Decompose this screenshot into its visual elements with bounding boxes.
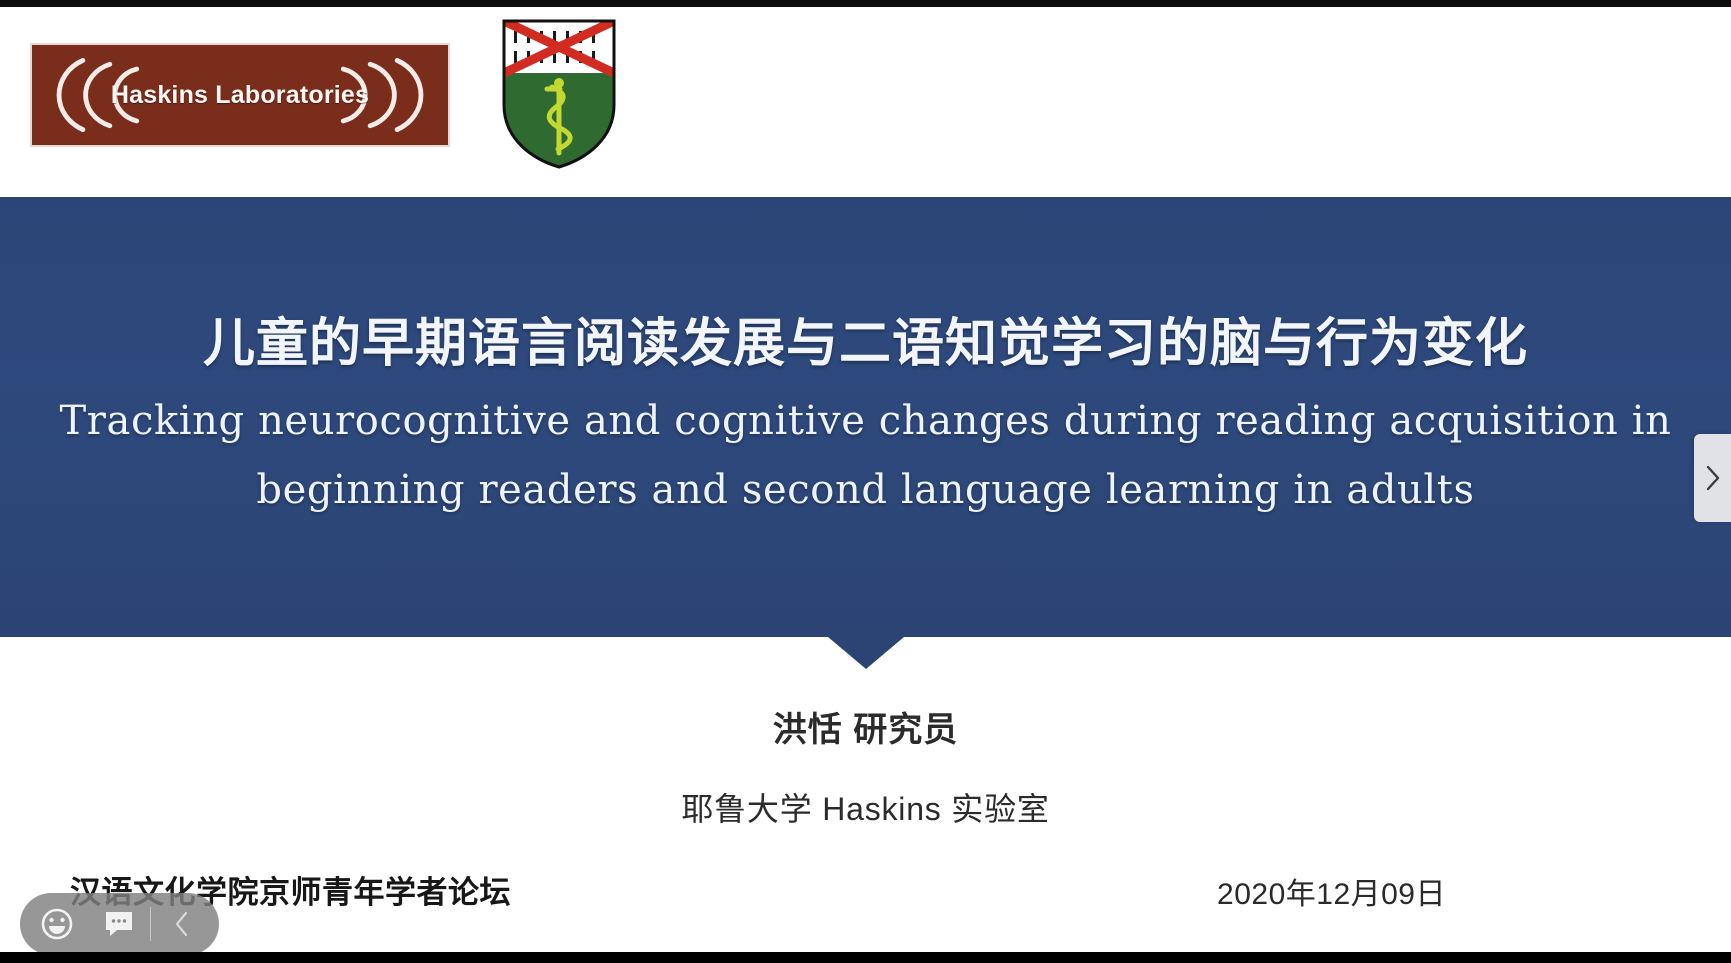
reaction-button[interactable] xyxy=(26,893,88,955)
band-pointer-triangle xyxy=(828,637,904,669)
haskins-laboratories-logo: Haskins Laboratories xyxy=(30,43,450,147)
slide-chinese-title: 儿童的早期语言阅读发展与二语知觉学习的脑与行为变化 xyxy=(0,301,1731,376)
haskins-wordmark: Haskins Laboratories xyxy=(111,81,369,110)
yale-shield-crest-icon xyxy=(500,17,618,169)
footer-date: 2020年12月09日 xyxy=(1217,869,1446,913)
bottom-black-strip xyxy=(0,952,1731,963)
speaker-name: 洪恬 研究员 xyxy=(0,702,1731,751)
zoom-shared-screen-viewer: Haskins Laboratories xyxy=(0,0,1731,963)
slide-english-title-line2: beginning readers and second language le… xyxy=(256,467,1474,513)
collapse-toolbar-button[interactable] xyxy=(151,893,213,955)
smiley-face-icon xyxy=(40,907,74,941)
chevron-right-icon xyxy=(1705,465,1721,491)
logo-row: Haskins Laboratories xyxy=(0,7,1731,197)
meeting-floating-toolbar xyxy=(20,893,219,955)
slide-english-title-line1: Tracking neurocognitive and cognitive ch… xyxy=(60,398,1672,444)
slide-english-title: Tracking neurocognitive and cognitive ch… xyxy=(55,387,1676,525)
top-black-strip xyxy=(0,0,1731,7)
next-slide-button[interactable] xyxy=(1694,434,1731,522)
speaker-affiliation: 耶鲁大学 Haskins 实验室 xyxy=(0,784,1731,830)
chevron-left-icon xyxy=(174,911,190,937)
title-band: 儿童的早期语言阅读发展与二语知觉学习的脑与行为变化 Tracking neuro… xyxy=(0,197,1731,637)
chat-bubble-icon xyxy=(103,909,135,939)
chat-button[interactable] xyxy=(88,893,150,955)
presentation-slide: Haskins Laboratories xyxy=(0,7,1731,952)
